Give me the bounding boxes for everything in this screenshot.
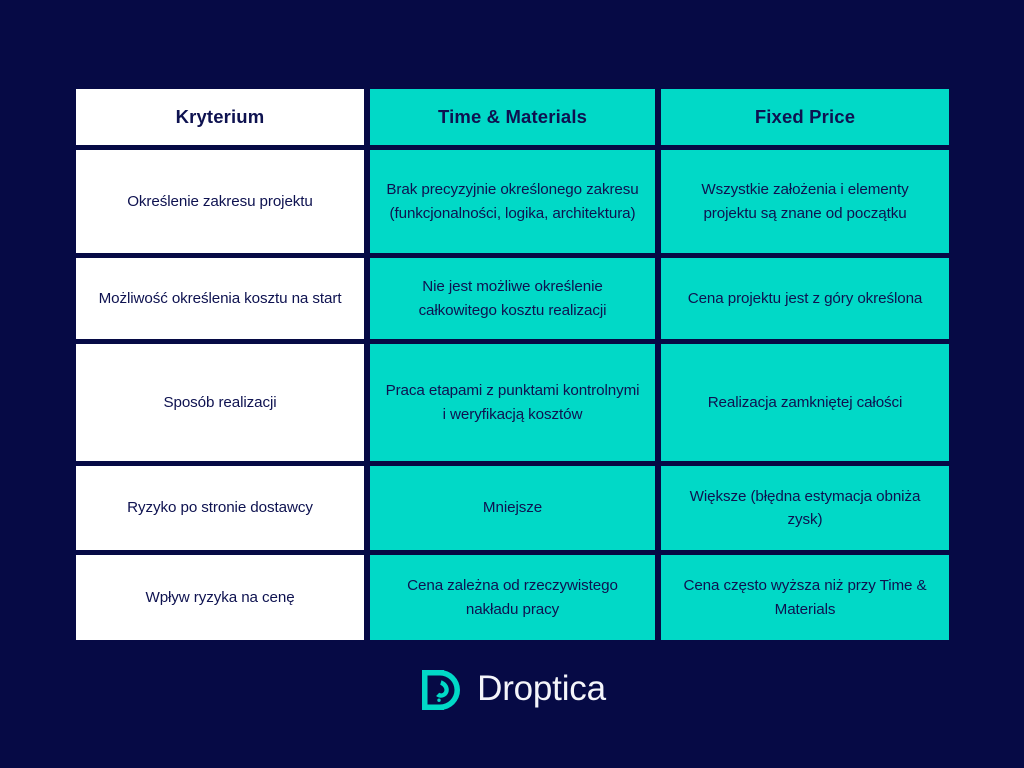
cell-fixed-price: Realizacja zamkniętej całości xyxy=(661,344,949,461)
cell-time-and-materials: Nie jest możliwe określenie całkowitego … xyxy=(370,258,655,339)
cell-time-and-materials: Mniejsze xyxy=(370,466,655,550)
column-header-time-and-materials: Time & Materials xyxy=(370,89,655,145)
table-row: Sposób realizacji Praca etapami z punkta… xyxy=(76,344,948,461)
table-row: Możliwość określenia kosztu na start Nie… xyxy=(76,258,948,339)
cell-fixed-price: Wszystkie założenia i elementy projektu … xyxy=(661,150,949,253)
slide-canvas: Kryterium Time & Materials Fixed Price O… xyxy=(0,0,1024,768)
cell-fixed-price: Cena często wyższa niż przy Time & Mater… xyxy=(661,555,949,640)
cell-criterion: Wpływ ryzyka na cenę xyxy=(76,555,364,640)
brand-logo: Droptica xyxy=(0,666,1024,714)
cell-time-and-materials: Praca etapami z punktami kontrolnymi i w… xyxy=(370,344,655,461)
droptica-droplet-d-mark-icon xyxy=(418,666,464,714)
table-row: Ryzyko po stronie dostawcy Mniejsze Więk… xyxy=(76,466,948,550)
cell-criterion: Określenie zakresu projektu xyxy=(76,150,364,253)
cell-fixed-price: Większe (błędna estymacja obniża zysk) xyxy=(661,466,949,550)
brand-wordmark: Droptica xyxy=(477,671,606,709)
cell-fixed-price: Cena projektu jest z góry określona xyxy=(661,258,949,339)
cell-criterion: Ryzyko po stronie dostawcy xyxy=(76,466,364,550)
cell-time-and-materials: Cena zależna od rzeczywistego nakładu pr… xyxy=(370,555,655,640)
cell-criterion: Możliwość określenia kosztu na start xyxy=(76,258,364,339)
column-header-kryterium: Kryterium xyxy=(76,89,364,145)
table-header-row: Kryterium Time & Materials Fixed Price xyxy=(76,89,948,145)
column-header-fixed-price: Fixed Price xyxy=(661,89,949,145)
comparison-table: Kryterium Time & Materials Fixed Price O… xyxy=(76,89,948,640)
table-row: Określenie zakresu projektu Brak precyzy… xyxy=(76,150,948,253)
table-row: Wpływ ryzyka na cenę Cena zależna od rze… xyxy=(76,555,948,640)
cell-time-and-materials: Brak precyzyjnie określonego zakresu (fu… xyxy=(370,150,655,253)
cell-criterion: Sposób realizacji xyxy=(76,344,364,461)
